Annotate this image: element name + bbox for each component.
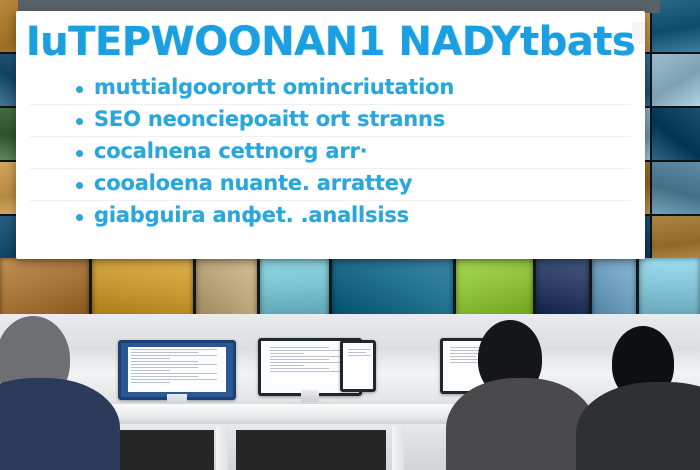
mid-video-wall <box>0 258 700 320</box>
slide-bullet-item: cocalnena cettnorg arr· <box>30 137 631 169</box>
bullet-dot-icon <box>76 150 83 157</box>
wall-screen <box>652 54 700 106</box>
desk-leg-right <box>392 426 404 470</box>
slide-bullet-item: SEO neonciepoaitt ort stranns <box>30 105 631 137</box>
wall-screen <box>260 258 329 320</box>
bullet-dot-icon <box>76 214 83 221</box>
slide-bullet-item: cooaloena nuante. arrattey <box>30 169 631 201</box>
wall-screen <box>652 108 700 160</box>
wall-screen <box>332 258 453 320</box>
slide-bullet-text: muttialgoorortt omincriutation <box>94 75 454 99</box>
desk-leg-left <box>216 426 228 470</box>
slide-bullet-item: muttialgoorortt omincriutation <box>30 73 631 105</box>
slide-bullet-text: giabguira anфet. .anallsiss <box>94 203 409 227</box>
monitor-far-right <box>340 340 376 392</box>
wall-screen <box>456 258 533 320</box>
person-right-operator <box>590 326 700 470</box>
bullet-dot-icon <box>76 118 83 125</box>
person-left-gray-hair <box>0 316 114 470</box>
card-corner-notch <box>632 22 645 44</box>
bullet-dot-icon <box>76 182 83 189</box>
slide-title: IuTEPWOONAN1 NADYtbats <box>16 21 645 63</box>
wall-screen <box>652 162 700 214</box>
slide-screenshot: IuTEPWOONAN1 NADYtbats muttialgoorortt o… <box>0 0 700 470</box>
bullet-dot-icon <box>76 86 83 93</box>
slide-bullet-list: muttialgoorortt omincriutationSEO neonci… <box>16 73 645 232</box>
slide-bullet-text: cooaloena nuante. arrattey <box>94 171 412 195</box>
desk-panel-center <box>236 430 386 470</box>
slide-card: IuTEPWOONAN1 NADYtbats muttialgoorortt o… <box>16 11 645 259</box>
wall-screen <box>639 258 700 320</box>
wall-screen <box>0 258 89 320</box>
wall-screen <box>536 258 589 320</box>
slide-bullet-text: cocalnena cettnorg arr· <box>94 139 367 163</box>
monitor-left <box>118 340 236 400</box>
slide-bullet-item: giabguira anфet. .anallsiss <box>30 201 631 232</box>
monitor-left-screen <box>118 340 236 400</box>
wall-screen <box>592 258 637 320</box>
wall-screen <box>196 258 257 320</box>
slide-bullet-text: SEO neonciepoaitt ort stranns <box>94 107 445 131</box>
person-center-operator <box>452 320 592 470</box>
monitor-left-content <box>128 347 227 391</box>
wall-screen <box>92 258 193 320</box>
monitor-far-right-content <box>345 347 371 385</box>
monitor-far-right-screen <box>340 340 376 392</box>
